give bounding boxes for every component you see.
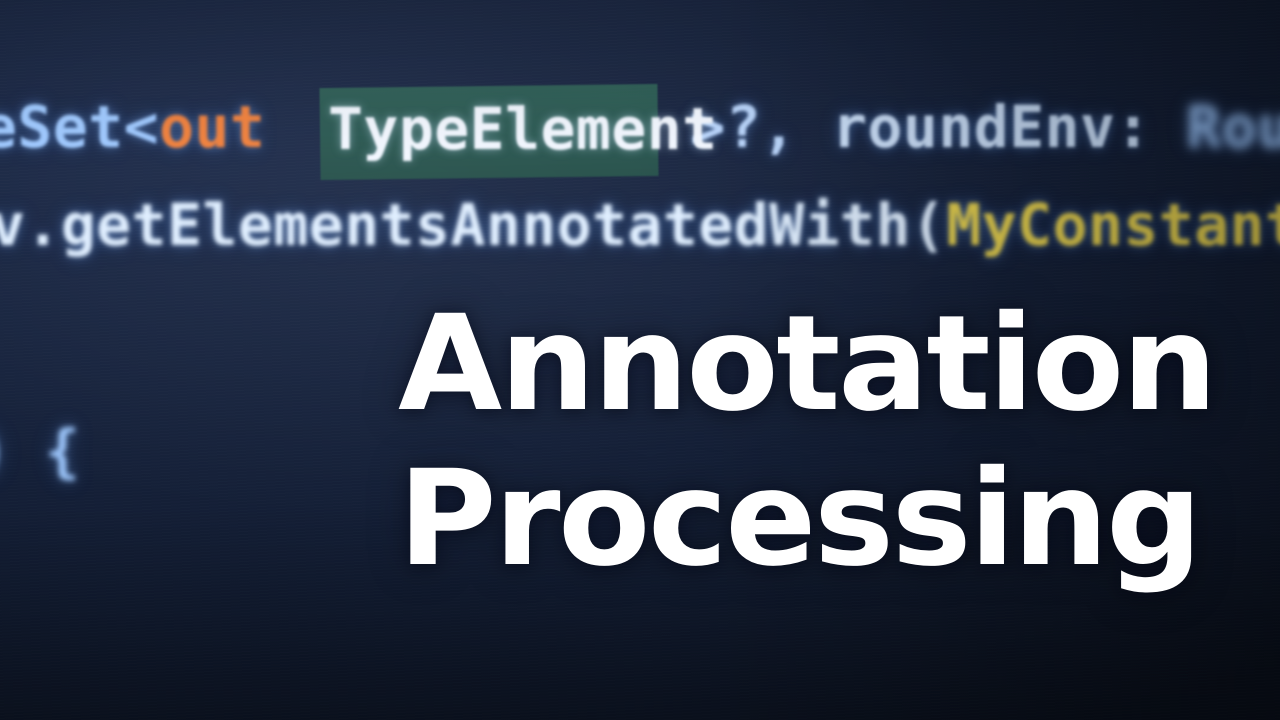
title-line-2: Processing	[398, 455, 1204, 584]
page-title: Annotation Processing	[398, 300, 1188, 585]
title-line-1: Annotation	[398, 300, 1204, 429]
video-thumbnail: eSet<out TypeElement>?, roundEnv: RoundE…	[0, 0, 1280, 720]
